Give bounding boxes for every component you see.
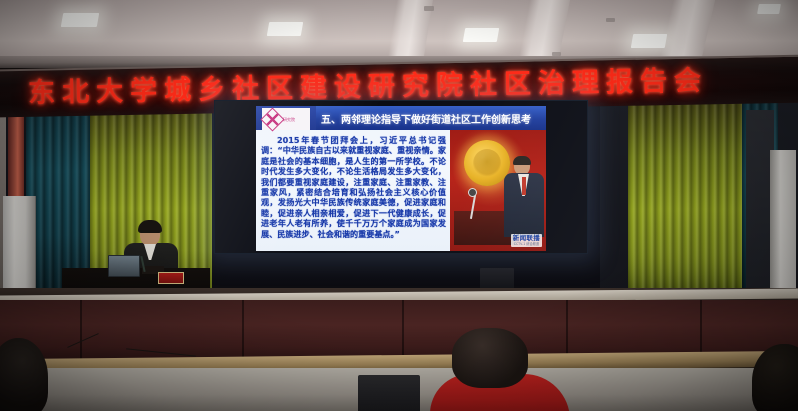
ceiling-light [267,22,303,36]
institute-logo: 研究院 [262,108,310,130]
podium-microphone-icon [468,188,477,197]
slide-title: 五、两邻理论指导下做好街道社区工作创新思考 [316,111,531,126]
stage-equipment-box [480,268,514,290]
nameplate [158,272,184,284]
slide-body: 2015年春节团拜会上，习近平总书记强调：“中华民族自古以来就重视家庭、重视亲情… [256,130,450,251]
tv-watermark-main: 新闻联播 [513,235,540,242]
presenter-hair [138,220,162,233]
ceiling-beam [518,0,570,62]
laptop-icon [108,255,140,277]
projection-screen: 研究院 五、两邻理论指导下做好街道社区工作创新思考 2015年春节团拜会上，习近… [214,100,588,254]
diamond-logo-icon [260,107,284,131]
slide-body-text: 2015年春节团拜会上，习近平总书记强调：“中华民族自古以来就重视家庭、重视亲情… [261,135,446,239]
ceiling-vent-icon [424,6,434,11]
ceiling-light [757,4,781,14]
speaker-hair [513,156,531,165]
ceiling-beam [659,0,715,62]
conference-hall-photo: 东北大学城乡社区建设研究院社区治理报告会 研究院 五、两邻理论指导下做好街道社区… [0,0,798,411]
ceiling-light [463,28,499,42]
slide-photo-speaker [504,157,544,237]
audience-red-jacket [430,328,570,411]
ceiling-vent-icon [606,18,615,22]
slide-title-bar: 五、两邻理论指导下做好街道社区工作创新思考 [316,106,546,130]
audience-red-hair [452,328,528,388]
ceiling-light [631,34,667,48]
ceiling-light [61,13,99,27]
slide-photo: 新闻联播 CCTV-1 综合频道 [450,130,546,251]
wall-white-column [770,150,796,300]
tv-watermark-sub: CCTV-1 综合频道 [514,242,539,246]
curtain-olive-right [628,100,746,288]
wood-panel-seam [242,300,244,362]
floor-loudspeaker [358,375,420,411]
wood-panel-seam [402,300,404,362]
speaker-tie [522,177,526,195]
wood-panel-seam [80,300,82,362]
tv-channel-watermark: 新闻联播 CCTV-1 综合频道 [511,234,542,247]
presentation-slide: 研究院 五、两邻理论指导下做好街道社区工作创新思考 2015年春节团拜会上，习近… [256,106,546,251]
